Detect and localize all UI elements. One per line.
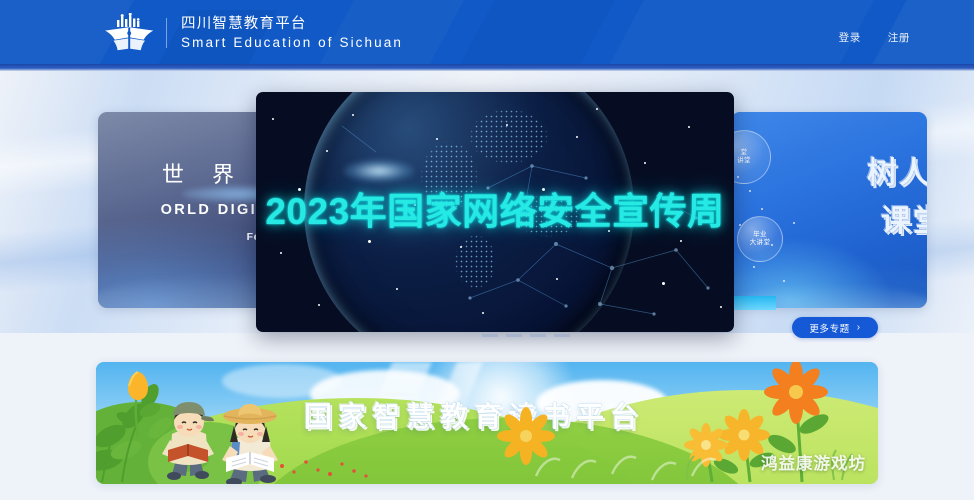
- header-bottom-rule: [0, 64, 974, 71]
- header-nav: 登录 注册: [839, 30, 910, 45]
- brand-divider: [166, 18, 167, 48]
- reading-banner-title: 国家智慧教育读书平台: [304, 399, 644, 435]
- banner-petals: [276, 452, 386, 482]
- reading-platform-banner[interactable]: 国家智慧教育读书平台: [96, 362, 878, 484]
- slide-right-title-line2: 课堂: [867, 202, 927, 242]
- carousel-caption-rule: [482, 334, 578, 337]
- slide-right-title: 树人 课堂: [867, 154, 927, 242]
- chevron-right-icon: ›: [857, 323, 861, 333]
- site-header: 四川智慧教育平台 Smart Education of Sichuan 登录 注…: [0, 0, 974, 64]
- nav-register-link[interactable]: 注册: [888, 30, 910, 45]
- page-root: 四川智慧教育平台 Smart Education of Sichuan 登录 注…: [0, 0, 974, 500]
- slide-right-title-line1: 树人: [867, 157, 927, 190]
- banner-grass-squiggles: [526, 436, 746, 484]
- brand-logo-link[interactable]: 四川智慧教育平台 Smart Education of Sichuan: [100, 13, 403, 53]
- slide-bubble: 毕业大讲堂: [737, 216, 783, 262]
- brand-title-en: Smart Education of Sichuan: [181, 33, 403, 52]
- nav-login-link[interactable]: 登录: [839, 30, 861, 45]
- more-topics-label: 更多专题: [809, 321, 849, 335]
- header-streak-decoration: [415, 0, 625, 64]
- brand-title-cn: 四川智慧教育平台: [181, 15, 403, 33]
- next-slide-peek-strip: [734, 296, 776, 310]
- open-book-logo-icon: [100, 13, 158, 53]
- carousel-video-player[interactable]: 2023年国家网络安全宣传周: [256, 92, 734, 332]
- carousel-slide-right[interactable]: 堂讲堂 毕业大讲堂 树人 课堂: [731, 112, 927, 308]
- more-topics-button[interactable]: 更多专题 ›: [792, 317, 878, 338]
- video-overlay-title: 2023年国家网络安全宣传周: [256, 189, 734, 235]
